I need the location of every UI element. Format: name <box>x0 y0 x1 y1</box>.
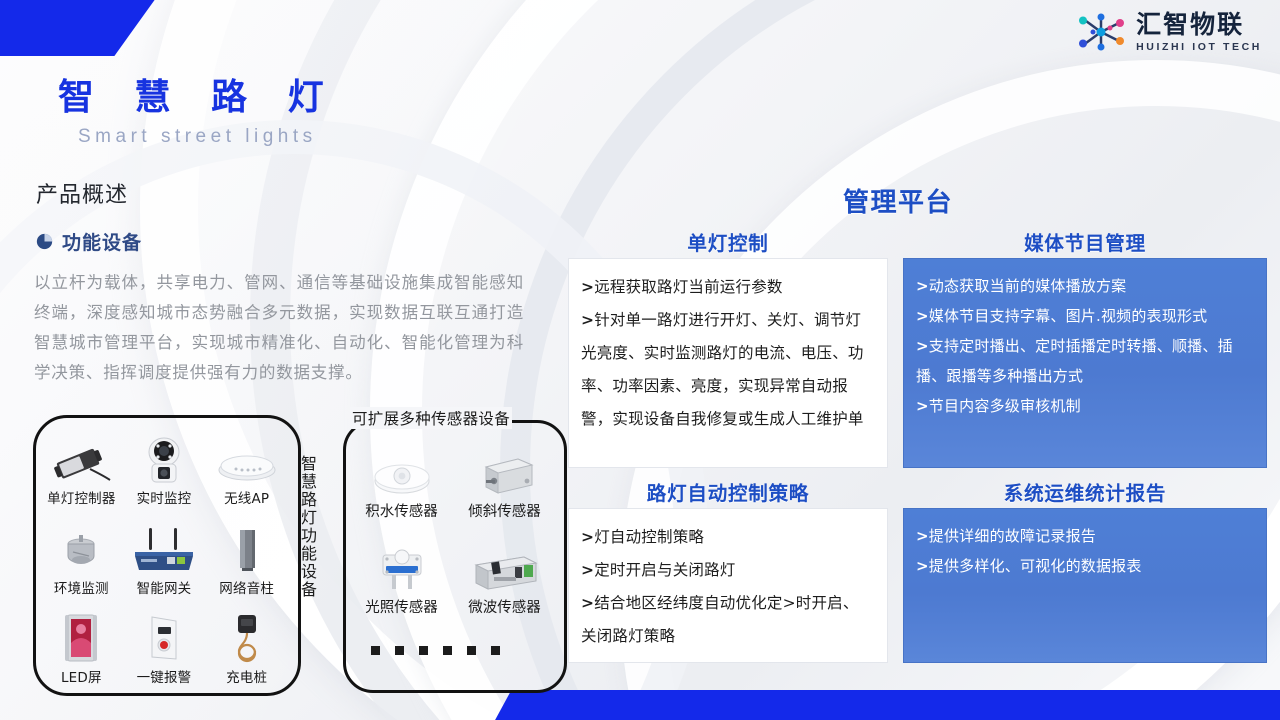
device-item-emergency-alarm[interactable]: 一键报警 <box>123 599 206 688</box>
sensor-more-dots <box>371 646 500 655</box>
list-item: >定时开启与关闭路灯 <box>581 554 873 587</box>
page-title: 智 慧 路 灯 <box>58 68 338 120</box>
device-item-label: 无线AP <box>224 487 269 507</box>
list-item: >提供详细的故障记录报告 <box>916 521 1252 551</box>
charging-pile-icon <box>227 613 267 663</box>
light-sensor-icon <box>369 538 435 593</box>
smart-gateway-icon <box>127 524 201 574</box>
sensor-item-label: 光照传感器 <box>365 596 438 617</box>
footer-accent-bar <box>494 690 1280 720</box>
device-item-lamp-controller[interactable]: 单灯控制器 <box>40 420 123 509</box>
list-item: >针对单一路灯进行开灯、关灯、调节灯光亮度、实时监测路灯的电流、电压、功率、功率… <box>581 304 873 436</box>
panel-auto-control-strategy: >灯自动控制策略 >定时开启与关闭路灯 >结合地区经纬度自动优化定>时开启、关闭… <box>568 508 888 663</box>
device-item-label: 充电桩 <box>226 666 267 686</box>
list-item: >节目内容多级审核机制 <box>916 391 1252 421</box>
list-item: >媒体节目支持字幕、图片.视频的表现形式 <box>916 301 1252 331</box>
device-grid: 单灯控制器 实时监控 <box>40 420 288 688</box>
environment-monitor-icon <box>55 524 107 574</box>
device-item-network-speaker[interactable]: 网络音柱 <box>205 509 288 598</box>
platform-title: 管理平台 <box>843 182 953 219</box>
device-item-wireless-ap[interactable]: 无线AP <box>205 420 288 509</box>
device-item-label: 单灯控制器 <box>47 487 116 507</box>
microwave-sensor-icon <box>468 538 542 593</box>
sensor-item-microwave[interactable]: 微波传感器 <box>453 521 556 617</box>
list-item: >结合地区经纬度自动优化定>时开启、关闭路灯策略 <box>581 587 873 653</box>
device-item-label: 实时监控 <box>137 487 192 507</box>
list-item: >动态获取当前的媒体播放方案 <box>916 271 1252 301</box>
molecule-network-icon <box>1076 13 1128 51</box>
brand-name-cn: 汇智物联 <box>1136 12 1244 37</box>
device-item-environment-monitor[interactable]: 环境监测 <box>40 509 123 598</box>
device-item-label: 网络音柱 <box>219 577 274 597</box>
device-item-label: 智能网关 <box>137 577 192 597</box>
sensor-grid: 积水传感器 倾斜传感器 <box>350 425 556 617</box>
device-item-charging-pile[interactable]: 充电桩 <box>205 599 288 688</box>
page-subtitle: Smart street lights <box>78 126 317 148</box>
panel-ops-statistics-report: >提供详细的故障记录报告 >提供多样化、可视化的数据报表 <box>903 508 1267 663</box>
panel-heading-media-program-management: 媒体节目管理 <box>903 227 1267 256</box>
device-box-side-label: 智慧路灯功能设备 <box>296 455 318 599</box>
list-item: >远程获取路灯当前运行参数 <box>581 271 873 304</box>
device-item-led-screen[interactable]: LED屏 <box>40 599 123 688</box>
panel-bullet-list: >远程获取路灯当前运行参数 >针对单一路灯进行开灯、关灯、调节灯光亮度、实时监测… <box>581 271 873 436</box>
pie-chart-icon <box>36 233 53 250</box>
device-item-label: 环境监测 <box>54 577 109 597</box>
sensor-item-water-level[interactable]: 积水传感器 <box>350 425 453 521</box>
subheading-label: 功能设备 <box>62 228 142 255</box>
device-item-label: LED屏 <box>61 666 102 686</box>
panel-heading-auto-control-strategy: 路灯自动控制策略 <box>568 477 888 506</box>
sensor-item-label: 倾斜传感器 <box>468 500 541 521</box>
led-screen-icon <box>61 613 101 663</box>
device-item-label: 一键报警 <box>137 666 192 686</box>
emergency-alarm-icon <box>143 613 185 663</box>
brand-name-en: HUIZHI IOT TECH <box>1136 42 1262 53</box>
sensor-item-light[interactable]: 光照传感器 <box>350 521 453 617</box>
brand-logo: 汇智物联 HUIZHI IOT TECH <box>1076 12 1262 53</box>
overview-paragraph: 以立杆为载体，共享电力、管网、通信等基础设施集成智能感知终端，深度感知城市态势融… <box>34 268 524 388</box>
list-item: >提供多样化、可视化的数据报表 <box>916 551 1252 581</box>
panel-single-lamp-control: >远程获取路灯当前运行参数 >针对单一路灯进行开灯、关灯、调节灯光亮度、实时监测… <box>568 258 888 468</box>
lamp-controller-icon <box>50 434 112 484</box>
panel-bullet-list: >动态获取当前的媒体播放方案 >媒体节目支持字幕、图片.视频的表现形式 >支持定… <box>916 271 1252 421</box>
panel-media-program-management: >动态获取当前的媒体播放方案 >媒体节目支持字幕、图片.视频的表现形式 >支持定… <box>903 258 1267 468</box>
device-item-smart-gateway[interactable]: 智能网关 <box>123 509 206 598</box>
panel-bullet-list: >灯自动控制策略 >定时开启与关闭路灯 >结合地区经纬度自动优化定>时开启、关闭… <box>581 521 873 653</box>
network-speaker-icon <box>232 524 262 574</box>
list-item: >灯自动控制策略 <box>581 521 873 554</box>
list-item: >支持定时播出、定时插播定时转播、顺播、插播、跟播等多种播出方式 <box>916 331 1252 391</box>
tilt-sensor-icon <box>472 442 538 497</box>
subheading-function-devices: 功能设备 <box>36 228 142 255</box>
sensor-item-label: 微波传感器 <box>468 596 541 617</box>
wireless-ap-icon <box>216 434 278 484</box>
panel-heading-ops-statistics-report: 系统运维统计报告 <box>903 477 1267 506</box>
device-item-realtime-camera[interactable]: 实时监控 <box>123 420 206 509</box>
sensor-item-label: 积水传感器 <box>365 500 438 521</box>
section-title-overview: 产品概述 <box>36 177 128 209</box>
ptz-camera-icon <box>141 434 187 484</box>
panel-heading-single-lamp-control: 单灯控制 <box>568 227 888 256</box>
panel-bullet-list: >提供详细的故障记录报告 >提供多样化、可视化的数据报表 <box>916 521 1252 581</box>
sensor-item-tilt[interactable]: 倾斜传感器 <box>453 425 556 521</box>
water-level-sensor-icon <box>369 442 435 497</box>
slide-canvas: 汇智物联 HUIZHI IOT TECH 智 慧 路 灯 Smart stree… <box>0 0 1280 720</box>
